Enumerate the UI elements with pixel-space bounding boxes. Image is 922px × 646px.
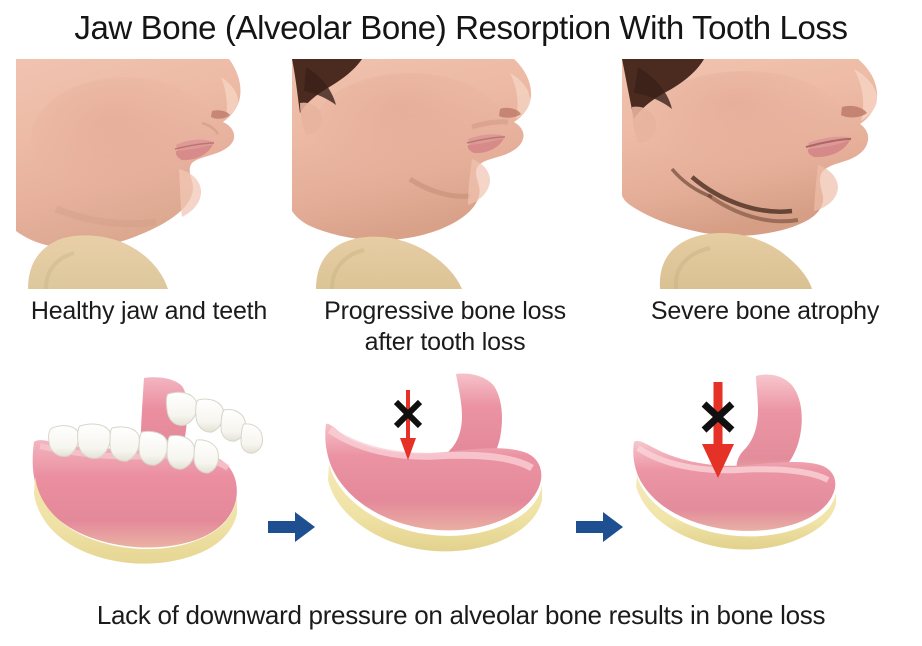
face-image-healthy [16, 59, 283, 289]
caption-healthy: Healthy jaw and teeth [8, 296, 290, 327]
jaw-image-severe-resorption [628, 372, 906, 587]
caption-progressive: Progressive bone loss after tooth loss [300, 296, 590, 358]
page-title: Jaw Bone (Alveolar Bone) Resorption With… [0, 8, 922, 48]
caption-severe-line1: Severe bone atrophy [651, 297, 879, 325]
face-panel-row [0, 59, 922, 289]
jaw-image-with-teeth [18, 372, 280, 587]
caption-progressive-line1: Progressive bone loss [324, 297, 566, 325]
jaw-resorption-figure: Jaw Bone (Alveolar Bone) Resorption With… [0, 0, 922, 646]
face-image-severe-atrophy [612, 59, 906, 289]
caption-healthy-line1: Healthy jaw and teeth [31, 297, 267, 325]
jaw-panel-row [0, 372, 922, 587]
jaw-image-moderate-resorption [322, 372, 587, 587]
progression-arrow-2 [576, 510, 624, 544]
caption-progressive-line2: after tooth loss [300, 327, 590, 358]
caption-severe: Severe bone atrophy [620, 296, 910, 327]
progression-arrow-1 [268, 510, 316, 544]
face-image-progressive-loss [292, 59, 564, 289]
bottom-caption: Lack of downward pressure on alveolar bo… [0, 598, 922, 632]
